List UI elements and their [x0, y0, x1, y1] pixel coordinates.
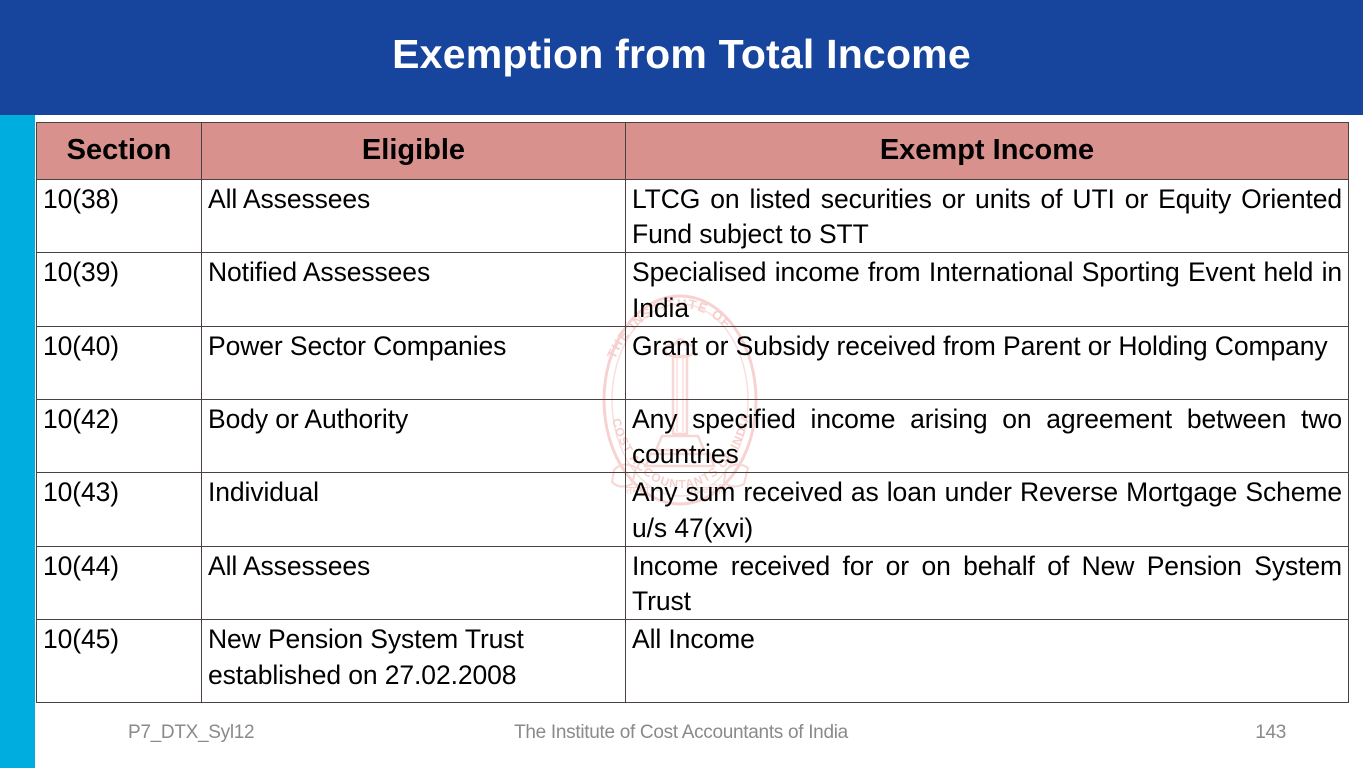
cell-section: 10(43) [37, 473, 202, 546]
footer-course-code: P7_DTX_Syl12 [36, 722, 336, 744]
left-accent-bar [0, 115, 35, 768]
table-row: 10(42) Body or Authority Any specified i… [37, 399, 1349, 472]
cell-section: 10(45) [37, 620, 202, 703]
cell-exempt-income: Specialised income from International Sp… [626, 253, 1349, 326]
cell-eligible: All Assessees [202, 180, 626, 253]
cell-exempt-income: LTCG on listed securities or units of UT… [626, 180, 1349, 253]
cell-section: 10(40) [37, 326, 202, 399]
page-title: Exemption from Total Income [392, 34, 971, 81]
cell-exempt-income: All Income [626, 620, 1349, 703]
column-header-section: Section [37, 123, 202, 180]
cell-exempt-income: Income received for or on behalf of New … [626, 546, 1349, 619]
table-row: 10(38) All Assessees LTCG on listed secu… [37, 180, 1349, 253]
cell-section: 10(42) [37, 399, 202, 472]
table-row: 10(40) Power Sector Companies Grant or S… [37, 326, 1349, 399]
cell-exempt-income: Any sum received as loan under Reverse M… [626, 473, 1349, 546]
cell-section: 10(38) [37, 180, 202, 253]
cell-eligible: Body or Authority [202, 399, 626, 472]
cell-section: 10(44) [37, 546, 202, 619]
column-header-eligible: Eligible [202, 123, 626, 180]
slide-title-banner: Exemption from Total Income [0, 0, 1363, 115]
cell-eligible: All Assessees [202, 546, 626, 619]
exemption-table: Section Eligible Exempt Income 10(38) Al… [36, 122, 1349, 703]
table-row: 10(39) Notified Assessees Specialised in… [37, 253, 1349, 326]
cell-exempt-income: Any specified income arising on agreemen… [626, 399, 1349, 472]
cell-eligible: New Pension System Trust established on … [202, 620, 626, 703]
cell-eligible: Power Sector Companies [202, 326, 626, 399]
cell-eligible: Notified Assessees [202, 253, 626, 326]
cell-section: 10(39) [37, 253, 202, 326]
table-row: 10(45) New Pension System Trust establis… [37, 620, 1349, 703]
slide-footer: P7_DTX_Syl12 The Institute of Cost Accou… [36, 718, 1326, 748]
table-row: 10(43) Individual Any sum received as lo… [37, 473, 1349, 546]
cell-eligible: Individual [202, 473, 626, 546]
cell-exempt-income: Grant or Subsidy received from Parent or… [626, 326, 1349, 399]
footer-page-number: 143 [1026, 722, 1326, 744]
table-header-row: Section Eligible Exempt Income [37, 123, 1349, 180]
footer-institute-name: The Institute of Cost Accountants of Ind… [336, 722, 1026, 744]
table-row: 10(44) All Assessees Income received for… [37, 546, 1349, 619]
column-header-exempt-income: Exempt Income [626, 123, 1349, 180]
